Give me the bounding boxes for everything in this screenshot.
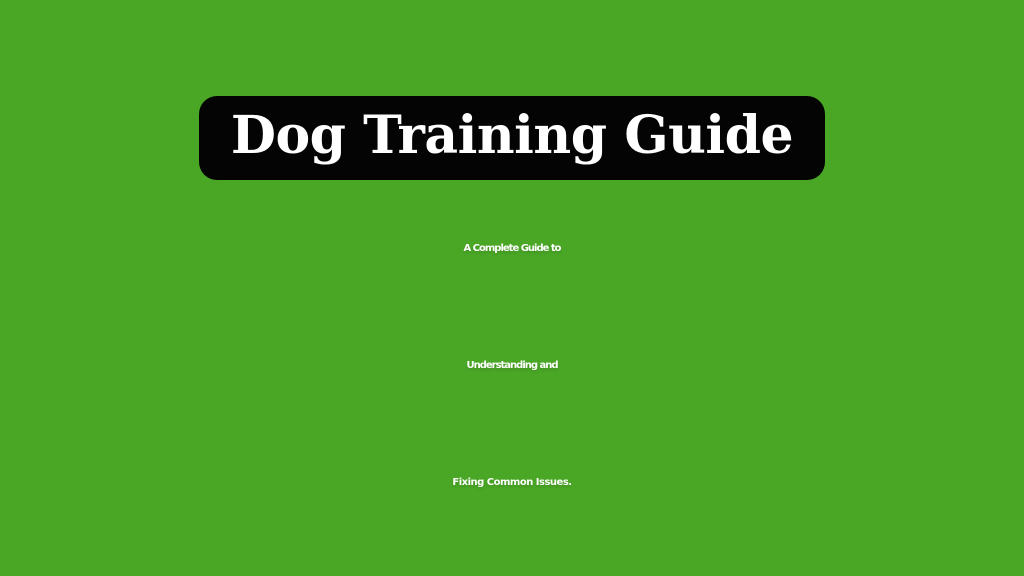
category-badge-label: Dog Training Guide xyxy=(231,110,793,162)
headline-line-3: Fixing Common Issues. xyxy=(0,424,1024,541)
headline-line-1: A Complete Guide to xyxy=(0,190,1024,307)
badge-container: Dog Training Guide xyxy=(0,96,1024,180)
headline-line-2: Understanding and xyxy=(0,307,1024,424)
category-badge: Dog Training Guide xyxy=(199,96,825,180)
poster-canvas: Dog Training Guide A Complete Guide to U… xyxy=(0,0,1024,576)
headline-block: A Complete Guide to Understanding and Fi… xyxy=(0,190,1024,541)
